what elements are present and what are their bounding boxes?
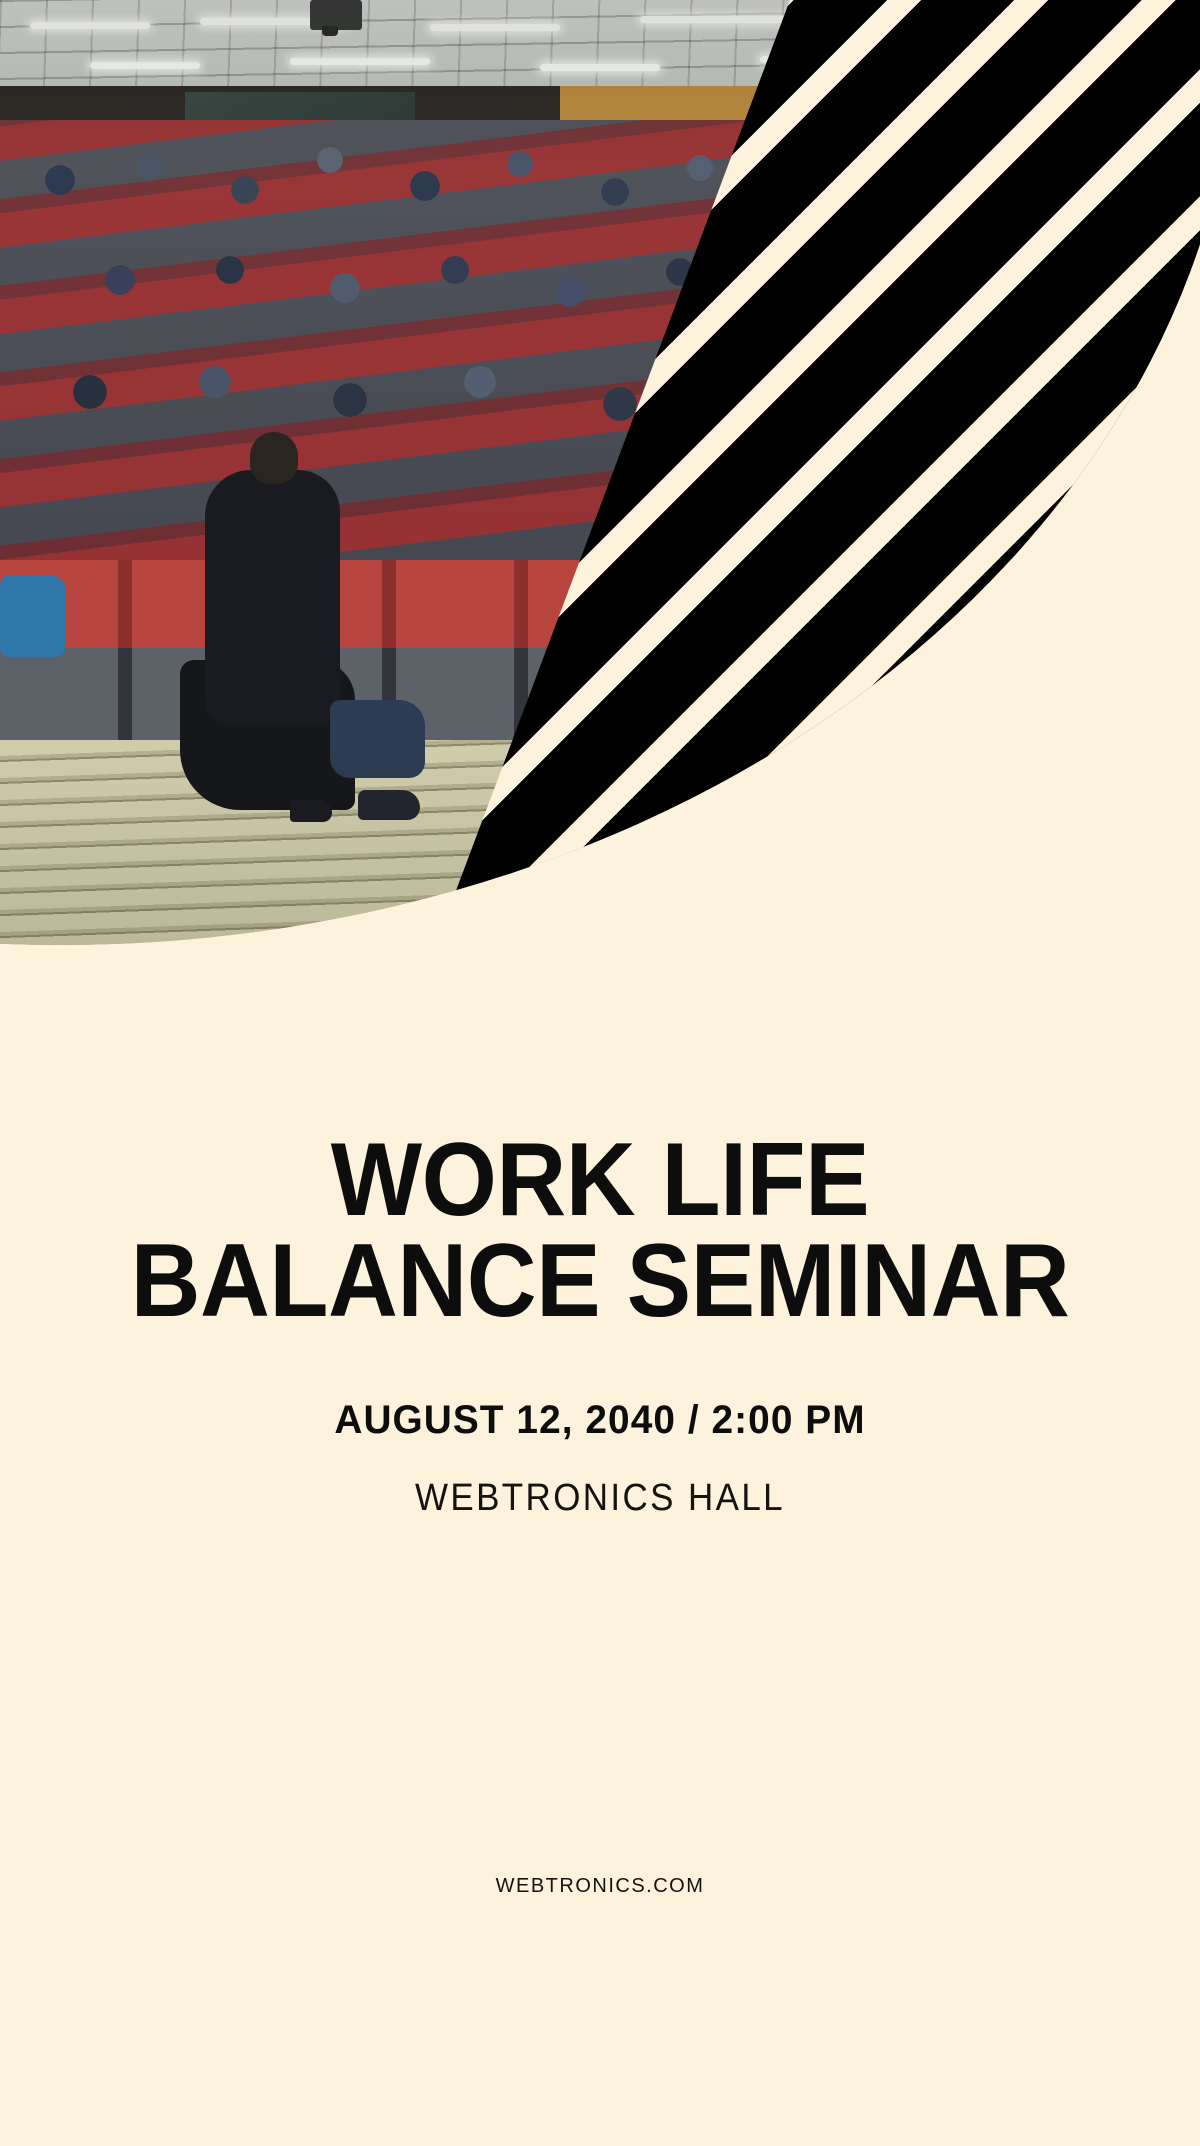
title-line-2: BALANCE SEMINAR [42, 1231, 1158, 1332]
poster-content: WORK LIFE BALANCE SEMINAR AUGUST 12, 204… [0, 1130, 1200, 1520]
event-poster: WORK LIFE BALANCE SEMINAR AUGUST 12, 204… [0, 0, 1200, 2146]
event-venue: WEBTRONICS HALL [48, 1477, 1152, 1520]
title-line-1: WORK LIFE [42, 1130, 1158, 1231]
hero-image-region [0, 0, 1200, 960]
event-datetime: AUGUST 12, 2040 / 2:00 PM [18, 1398, 1182, 1443]
page-title: WORK LIFE BALANCE SEMINAR [42, 1130, 1158, 1332]
footer-website: WEBTRONICS.COM [0, 1875, 1200, 1898]
